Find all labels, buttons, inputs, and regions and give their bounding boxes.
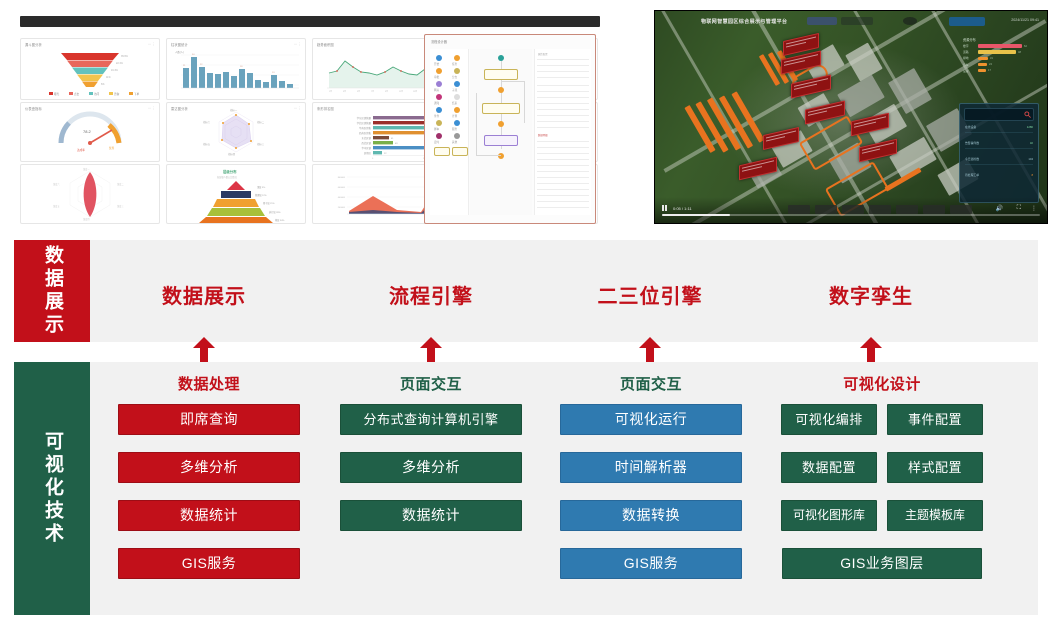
svg-text:点击: 点击 — [74, 92, 80, 96]
panel-row-value: 104 — [1028, 157, 1033, 161]
data-display-titles: 数据展示 流程引擎 二三位引擎 数字孪生 — [90, 240, 1038, 342]
svg-text:其他区: 其他区 — [364, 151, 372, 155]
svg-text:22: 22 — [384, 153, 387, 155]
svg-text:0: 0 — [372, 158, 374, 160]
column-page-interaction-blue: 页面交互 可视化运行 时间解析器 数据转换 GIS服务 — [532, 362, 770, 596]
box-multidim-analysis[interactable]: 多维分析 — [118, 452, 300, 483]
sidebar-tab-label: 数据展示 — [42, 245, 62, 337]
showcase-row: 漏斗图分析 ⋯ ⋮ 35.6%22.1% 16.4%11%6% 曝光 点击 — [0, 0, 1051, 232]
map-side-panel[interactable]: 在线设备 1286 告警事件数 32 今日巡检数 104 待处理工单 8 — [959, 103, 1039, 203]
svg-text:800000: 800000 — [338, 177, 346, 179]
svg-text:维度六: 维度六 — [53, 182, 60, 186]
box-data-transform[interactable]: 数据转换 — [560, 500, 742, 531]
video-control-bar[interactable]: 0:05 / 1:11 🔊 ⛶ ⋮ — [655, 197, 1047, 223]
svg-text:400000: 400000 — [338, 197, 346, 199]
svg-text:华东区销售额: 华东区销售额 — [357, 116, 372, 120]
box-data-statistics[interactable]: 数据统计 — [118, 500, 300, 531]
box-theme-template-library[interactable]: 主题模板库 — [887, 500, 983, 531]
legend-value: 24 — [989, 63, 992, 66]
flow-panel-title: 流程设计器 — [431, 39, 447, 44]
rose-chart: 维度一维度二维度三 维度四维度五维度六 — [21, 165, 159, 223]
video-progress-track[interactable] — [662, 214, 1040, 216]
svg-text:21: 21 — [183, 65, 186, 67]
svg-text:13日: 13日 — [413, 90, 417, 93]
video-chapter-thumbs[interactable] — [788, 205, 972, 214]
panel-row-label: 待处理工单 — [965, 173, 979, 177]
card-bar[interactable]: 柱状图统计 ⋯ ⋮ — [166, 38, 306, 100]
column-page-interaction-green: 页面交互 分布式查询计算机引擎 多维分析 数据统计 — [312, 362, 550, 548]
svg-text:优秀: 优秀 — [109, 146, 115, 150]
svg-text:访问: 访问 — [94, 92, 100, 96]
title-digital-twin[interactable]: 数字孪生 — [829, 280, 913, 309]
svg-text:执行层 28%: 执行层 28% — [269, 210, 281, 214]
box-time-parser[interactable]: 时间解析器 — [560, 452, 742, 483]
column-header: 页面交互 — [532, 373, 770, 394]
arrow-up-icon-2 — [420, 337, 442, 363]
sidebar-tab-label: 可视化技术 — [42, 431, 62, 546]
title-2d3d-engine[interactable]: 二三位引擎 — [598, 280, 703, 309]
svg-text:1日: 1日 — [329, 90, 332, 93]
legend-label: 楼宇 — [963, 44, 978, 48]
box-ad-hoc-query[interactable]: 即席查询 — [118, 404, 300, 435]
title-flow-engine[interactable]: 流程引擎 — [389, 280, 473, 309]
box-gis-service[interactable]: GIS服务 — [560, 548, 742, 579]
card-rose[interactable]: 维度一维度二维度三 维度四维度五维度六 — [20, 164, 160, 224]
svg-text:维度一: 维度一 — [83, 167, 90, 171]
svg-text:18: 18 — [240, 66, 243, 68]
svg-text:东北区销: 东北区销 — [361, 136, 371, 140]
legend-value: 17 — [988, 69, 991, 72]
card-title: 条形排名图 — [317, 106, 334, 111]
svg-text:11日: 11日 — [399, 90, 403, 93]
search-icon[interactable] — [1024, 111, 1031, 118]
card-menu-icon[interactable]: ⋯ ⋮ — [294, 106, 301, 110]
card-menu-icon[interactable]: ⋯ ⋮ — [148, 42, 155, 46]
legend-item: 道路 48 — [963, 50, 1037, 54]
map-legend: 资源分布 楼宇 62 道路 48 绿地 31 停车 24 — [963, 37, 1037, 75]
svg-text:顶层 5%: 顶层 5% — [257, 185, 265, 189]
flow-properties-panel[interactable]: 属性配置 数据明细 — [534, 49, 591, 215]
svg-text:西南区销售: 西南区销售 — [359, 131, 372, 135]
svg-text:指标二: 指标二 — [257, 120, 265, 124]
legend-bar — [978, 44, 1022, 47]
box-visual-runtime[interactable]: 可视化运行 — [560, 404, 742, 435]
svg-text:各层级人数占比情况: 各层级人数占比情况 — [217, 175, 237, 179]
legend-title: 资源分布 — [963, 37, 1037, 42]
box-style-config[interactable]: 样式配置 — [887, 452, 983, 483]
svg-text:指标一: 指标一 — [230, 108, 238, 112]
column-header: 页面交互 — [312, 373, 550, 394]
bar-chart: 213422 1813 人数(人) — [167, 39, 305, 99]
svg-text:指标三: 指标三 — [257, 142, 265, 146]
panel-row-label: 今日巡检数 — [965, 157, 979, 161]
column-data-processing: 数据处理 即席查询 多维分析 数据统计 GIS服务 — [90, 362, 328, 596]
svg-text:下单: 下单 — [134, 92, 140, 96]
flow-canvas[interactable] — [470, 49, 532, 215]
svg-text:骨干层 21%: 骨干层 21% — [263, 201, 275, 205]
column-visual-design: 可视化设计 可视化编排 事件配置 数据配置 样式配置 可视化图形库 主题模板库 … — [752, 362, 1012, 596]
pyramid-chart: 层级分布 各层级人数占比情况 顶层 5%管理层 12% 骨干层 21%执行层 2… — [167, 165, 305, 223]
box-visual-shape-library[interactable]: 可视化图形库 — [781, 500, 877, 531]
sidebar-tab-data-display[interactable]: 数据展示 — [14, 240, 90, 342]
legend-item: 设备 17 — [963, 69, 1037, 73]
title-data-display[interactable]: 数据展示 — [162, 280, 246, 309]
card-gauge[interactable]: 仪表盘指标 ⋯ ⋮ 78.2 达成率 优秀 — [20, 102, 160, 162]
svg-text:600000: 600000 — [338, 187, 346, 189]
radar-chart: 指标一指标二指标三 指标四指标五指标六 — [167, 103, 305, 161]
box-event-config[interactable]: 事件配置 — [887, 404, 983, 435]
legend-value: 48 — [1018, 51, 1021, 54]
svg-text:22.1%: 22.1% — [116, 62, 124, 65]
svg-text:华中区销: 华中区销 — [361, 146, 371, 150]
svg-text:华南区销售: 华南区销售 — [359, 126, 372, 130]
box-gis-business-layer[interactable]: GIS业务图层 — [782, 548, 982, 579]
tech-columns: 数据处理 即席查询 多维分析 数据统计 GIS服务 页面交互 分布式查询计算机引… — [90, 362, 1038, 615]
svg-text:6%: 6% — [101, 83, 105, 86]
svg-text:49: 49 — [395, 143, 398, 145]
map-datetime: 2024/11/21 09:41 — [1011, 18, 1039, 22]
card-menu-icon[interactable]: ⋯ ⋮ — [294, 42, 301, 46]
gauge-chart: 78.2 达成率 优秀 — [21, 103, 159, 161]
map-globe-icon[interactable] — [903, 17, 917, 25]
video-timestamp: 0:05 / 1:11 — [673, 206, 692, 211]
svg-text:9日: 9日 — [385, 90, 388, 93]
svg-text:指标五: 指标五 — [203, 142, 211, 146]
svg-text:16.4%: 16.4% — [111, 69, 119, 72]
panel-row-value: 8 — [1031, 173, 1033, 177]
flow-node-palette[interactable]: 开始 任务 审批 分支 网关 子流 通知 结束 条件 计算 脚本 服务 定时 其… — [430, 49, 469, 215]
svg-text:达成率: 达成率 — [77, 148, 85, 152]
svg-text:指标四: 指标四 — [228, 152, 236, 156]
pair-row-3: 可视化图形库 主题模板库 — [752, 500, 1012, 531]
svg-text:华北区销售额: 华北区销售额 — [357, 121, 372, 125]
svg-text:35.6%: 35.6% — [121, 55, 129, 58]
svg-text:咨询: 咨询 — [114, 92, 120, 96]
flow-engine-screenshot[interactable]: 流程设计器 开始 任务 审批 分支 网关 子流 通知 结束 条件 计算 脚本 服… — [424, 34, 596, 224]
svg-text:5日: 5日 — [357, 90, 360, 93]
panel-row[interactable]: 待处理工单 8 — [965, 172, 1033, 180]
svg-text:维度二: 维度二 — [117, 182, 124, 186]
svg-text:3日: 3日 — [343, 90, 346, 93]
svg-text:13: 13 — [272, 72, 275, 74]
card-funnel[interactable]: 漏斗图分析 ⋯ ⋮ 35.6%22.1% 16.4%11%6% 曝光 点击 — [20, 38, 160, 100]
funnel-chart: 35.6%22.1% 16.4%11%6% 曝光 点击 访问 咨询 下单 — [21, 39, 159, 99]
box-visual-orchestration[interactable]: 可视化编排 — [781, 404, 877, 435]
card-title: 雷达图分析 — [171, 106, 188, 111]
legend-bar — [978, 50, 1016, 53]
svg-text:维度四: 维度四 — [83, 217, 90, 221]
card-title: 柱状图统计 — [171, 42, 188, 47]
box-gis-service[interactable]: GIS服务 — [118, 548, 300, 579]
legend-label: 道路 — [963, 50, 978, 54]
legend-item: 楼宇 62 — [963, 44, 1037, 48]
svg-text:维度五: 维度五 — [53, 204, 60, 208]
panel-row-label: 告警事件数 — [965, 141, 979, 145]
volume-icon[interactable]: 🔊 — [996, 205, 1003, 212]
legend-value: 62 — [1024, 45, 1027, 48]
more-options-icon[interactable]: ⋮ — [1031, 205, 1037, 212]
legend-item: 停车 24 — [963, 63, 1037, 67]
sidebar-tab-visualization-tech[interactable]: 可视化技术 — [14, 362, 90, 615]
legend-label: 绿地 — [963, 56, 978, 60]
panel-row[interactable]: 在线设备 1286 — [965, 124, 1033, 133]
svg-text:78.2: 78.2 — [83, 129, 92, 134]
card-radar[interactable]: 雷达图分析 ⋯ ⋮ 指标一指标二指标三 指标四指标五指标 — [166, 102, 306, 162]
panel-row-value: 32 — [1030, 141, 1033, 145]
card-title: 仪表盘指标 — [25, 106, 42, 111]
arrow-up-icon-3 — [639, 337, 661, 363]
panel-row-value: 1286 — [1027, 125, 1033, 129]
map-platform-title: 物联网智慧园区综合展示与管理平台 — [701, 18, 787, 25]
legend-bar — [978, 57, 988, 60]
svg-text:11%: 11% — [106, 76, 111, 79]
column-header: 可视化设计 — [783, 373, 981, 394]
svg-text:基层 34%: 基层 34% — [275, 218, 284, 222]
panel-row-label: 在线设备 — [965, 125, 976, 129]
legend-value: 31 — [990, 57, 993, 60]
map-home-button[interactable] — [949, 17, 985, 26]
svg-text:指标六: 指标六 — [203, 120, 211, 124]
svg-text:41: 41 — [391, 138, 394, 140]
legend-bar — [978, 69, 986, 72]
arrow-up-icon-1 — [193, 337, 215, 363]
fullscreen-icon[interactable]: ⛶ — [1017, 205, 1021, 212]
box-data-statistics[interactable]: 数据统计 — [340, 500, 522, 531]
svg-text:曝光: 曝光 — [54, 92, 60, 96]
panel-row[interactable]: 告警事件数 32 — [965, 140, 1033, 149]
box-multidim-analysis[interactable]: 多维分析 — [340, 452, 522, 483]
legend-item: 绿地 31 — [963, 56, 1037, 60]
map-tab-two[interactable] — [841, 17, 873, 25]
video-progress-fill — [662, 214, 730, 216]
svg-text:维度三: 维度三 — [117, 204, 124, 208]
map-tab-one[interactable] — [807, 17, 837, 25]
svg-text:层级分布: 层级分布 — [222, 169, 237, 174]
svg-text:7日: 7日 — [371, 90, 374, 93]
panel-row[interactable]: 今日巡检数 104 — [965, 156, 1033, 165]
pair-row-1: 可视化编排 事件配置 — [752, 404, 1012, 435]
svg-text:西北区销: 西北区销 — [361, 141, 371, 145]
legend-label: 设备 — [963, 69, 978, 73]
card-title: 漏斗图分析 — [25, 42, 42, 47]
dashboard-topbar — [20, 16, 600, 27]
digital-twin-video[interactable]: 物联网智慧园区综合展示与管理平台 2024/11/21 09:41 资源分布 楼… — [654, 10, 1048, 224]
box-data-config[interactable]: 数据配置 — [781, 452, 877, 483]
legend-label: 停车 — [963, 63, 978, 67]
card-menu-icon[interactable]: ⋯ ⋮ — [148, 106, 155, 110]
column-header: 数据处理 — [90, 373, 328, 394]
svg-text:200000: 200000 — [338, 207, 346, 209]
box-distributed-query-engine[interactable]: 分布式查询计算机引擎 — [340, 404, 522, 435]
svg-text:人数(人): 人数(人) — [175, 50, 184, 54]
pause-icon[interactable] — [662, 205, 667, 211]
card-title: 趋势面积图 — [317, 42, 334, 47]
pair-row-2: 数据配置 样式配置 — [752, 452, 1012, 483]
svg-text:管理层 12%: 管理层 12% — [255, 193, 267, 197]
arrow-up-icon-4 — [860, 337, 882, 363]
card-pyramid[interactable]: 层级分布 各层级人数占比情况 顶层 5%管理层 12% 骨干层 21%执行层 2… — [166, 164, 306, 224]
legend-bar — [978, 63, 987, 66]
